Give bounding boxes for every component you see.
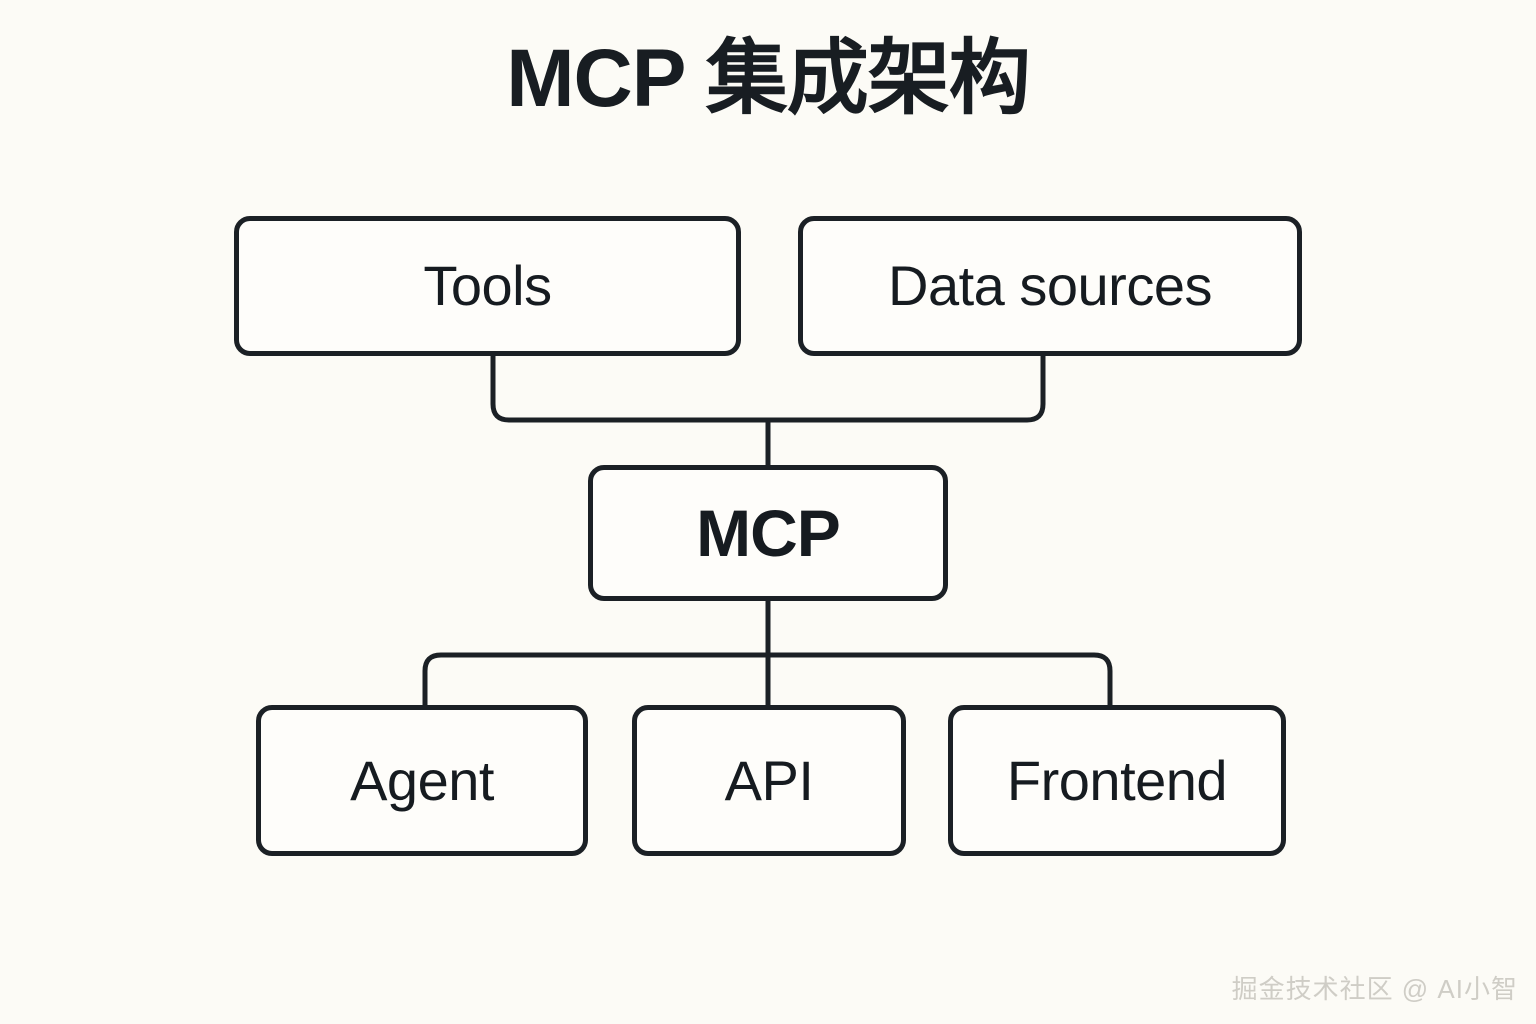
node-agent[interactable]: Agent <box>256 705 588 856</box>
page-title: MCP 集成架构 <box>0 36 1536 122</box>
node-data-sources[interactable]: Data sources <box>798 216 1302 356</box>
node-tools-label: Tools <box>423 258 551 314</box>
node-api[interactable]: API <box>632 705 906 856</box>
node-mcp-label: MCP <box>696 500 840 566</box>
node-agent-label: Agent <box>350 753 494 809</box>
node-data-sources-label: Data sources <box>888 258 1212 314</box>
node-mcp[interactable]: MCP <box>588 465 948 601</box>
edge-mcp-to-agent <box>425 655 768 705</box>
edge-mcp-to-frontend <box>768 655 1110 705</box>
edge-tools-to-mcp <box>493 356 768 420</box>
node-tools[interactable]: Tools <box>234 216 741 356</box>
node-api-label: API <box>725 753 814 809</box>
node-frontend-label: Frontend <box>1007 753 1227 809</box>
node-frontend[interactable]: Frontend <box>948 705 1286 856</box>
diagram-canvas: MCP 集成架构 Tools Data sources MCP Agent <box>0 0 1536 1024</box>
watermark: 掘金技术社区 @ AI小智 <box>1232 969 1518 1006</box>
edge-datasources-to-mcp <box>768 356 1043 420</box>
